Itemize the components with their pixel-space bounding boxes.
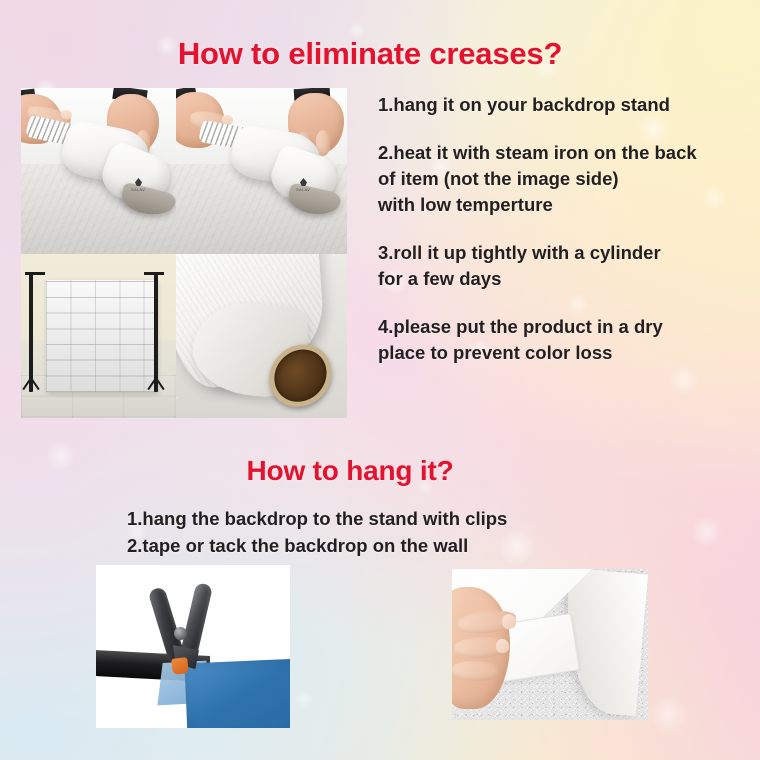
photo-backdrop-on-stand (21, 254, 176, 418)
infographic-page: How to eliminate creases? 1.hang it on y… (0, 0, 760, 760)
stand-crossbar-right (144, 272, 164, 275)
stand-post-right (154, 272, 158, 392)
creases-step-1-line-1: 1.hang it on your backdrop stand (378, 92, 758, 118)
tape-hand-nail-2 (496, 639, 510, 654)
page-title-eliminate-creases: How to eliminate creases? (0, 36, 750, 72)
page-title-how-to-hang: How to hang it? (0, 455, 730, 487)
creases-step-2-line-1: 2.heat it with steam iron on the back (378, 140, 758, 166)
photo-steam-iron-right: SALAV (176, 88, 347, 254)
blue-backdrop-fabric (184, 659, 290, 728)
photo-adhesive-tape (452, 569, 648, 720)
creases-step-4: 4.please put the product in a dry place … (378, 314, 758, 366)
creases-step-1: 1.hang it on your backdrop stand (378, 92, 758, 118)
creases-step-4-line-2: place to prevent color loss (378, 340, 758, 366)
creases-step-3-line-1: 3.roll it up tightly with a cylinder (378, 240, 758, 266)
creases-step-2-line-2: of item (not the image side) (378, 166, 758, 192)
iron-brand-text-2: SALAV (296, 187, 310, 192)
tape-hand-finger-3 (452, 660, 500, 682)
brick-pattern-backdrop (46, 280, 158, 392)
creases-step-4-line-1: 4.please put the product in a dry (378, 314, 758, 340)
iron-brand-text: SALAV (131, 187, 145, 192)
stand-scene (21, 254, 176, 418)
clamp-orange-tip (171, 657, 189, 675)
creases-step-2-line-3: with low temperture (378, 192, 758, 218)
iron-scene-left: SALAV (21, 88, 176, 254)
creases-step-2: 2.heat it with steam iron on the back of… (378, 140, 758, 218)
hang-steps-list: 1.hang the backdrop to the stand with cl… (127, 505, 687, 559)
creases-step-3: 3.roll it up tightly with a cylinder for… (378, 240, 758, 292)
hang-step-2: 2.tape or tack the backdrop on the wall (127, 532, 687, 559)
stand-post-left (29, 272, 33, 392)
photo-spring-clamp (96, 565, 290, 728)
stand-crossbar-left (25, 272, 45, 275)
creases-steps-list: 1.hang it on your backdrop stand 2.heat … (378, 92, 758, 366)
clamp-handle-right (180, 582, 213, 658)
hang-step-1: 1.hang the backdrop to the stand with cl… (127, 505, 687, 532)
roll-scene (176, 254, 347, 418)
photo-rolled-backdrop (176, 254, 347, 418)
iron-scene-right: SALAV (176, 88, 347, 254)
creases-step-3-line-2: for a few days (378, 266, 758, 292)
clamp-pivot-screw (174, 627, 187, 640)
creases-photo-collage: SALAV SALAV (21, 88, 347, 418)
photo-steam-iron-left: SALAV (21, 88, 176, 254)
